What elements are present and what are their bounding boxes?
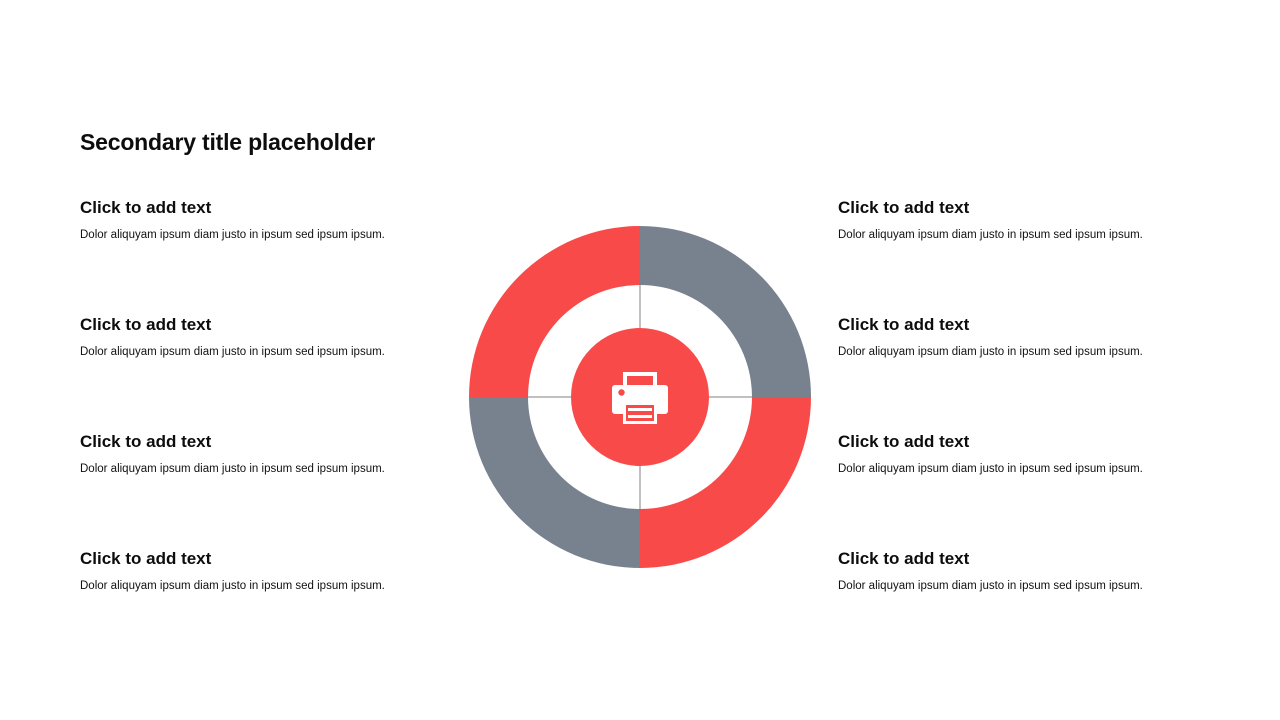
text-block-body[interactable]: Dolor aliquyam ipsum diam justo in ipsum… xyxy=(838,452,1228,477)
text-block-body[interactable]: Dolor aliquyam ipsum diam justo in ipsum… xyxy=(838,569,1228,594)
donut-chart-svg xyxy=(469,226,811,568)
text-block-heading[interactable]: Click to add text xyxy=(838,198,1228,218)
text-block-heading[interactable]: Click to add text xyxy=(80,315,470,335)
text-block-heading[interactable]: Click to add text xyxy=(838,315,1228,335)
text-block-body[interactable]: Dolor aliquyam ipsum diam justo in ipsum… xyxy=(80,452,470,477)
slide-canvas: Secondary title placeholder Click to add… xyxy=(0,0,1280,720)
text-block-bottom-left[interactable]: Click to add text Dolor aliquyam ipsum d… xyxy=(80,549,470,594)
text-block-heading[interactable]: Click to add text xyxy=(80,549,470,569)
text-block-lower-mid-left[interactable]: Click to add text Dolor aliquyam ipsum d… xyxy=(80,432,470,477)
text-block-top-left[interactable]: Click to add text Dolor aliquyam ipsum d… xyxy=(80,198,470,243)
text-block-body[interactable]: Dolor aliquyam ipsum diam justo in ipsum… xyxy=(838,335,1228,360)
text-block-body[interactable]: Dolor aliquyam ipsum diam justo in ipsum… xyxy=(80,335,470,360)
text-block-upper-mid-right[interactable]: Click to add text Dolor aliquyam ipsum d… xyxy=(838,315,1228,360)
text-block-heading[interactable]: Click to add text xyxy=(80,432,470,452)
text-block-top-right[interactable]: Click to add text Dolor aliquyam ipsum d… xyxy=(838,198,1228,243)
text-block-bottom-right[interactable]: Click to add text Dolor aliquyam ipsum d… xyxy=(838,549,1228,594)
text-block-body[interactable]: Dolor aliquyam ipsum diam justo in ipsum… xyxy=(838,218,1228,243)
donut-chart xyxy=(469,226,811,568)
text-block-heading[interactable]: Click to add text xyxy=(80,198,470,218)
text-block-upper-mid-left[interactable]: Click to add text Dolor aliquyam ipsum d… xyxy=(80,315,470,360)
text-block-lower-mid-right[interactable]: Click to add text Dolor aliquyam ipsum d… xyxy=(838,432,1228,477)
page-title: Secondary title placeholder xyxy=(80,129,375,156)
text-block-heading[interactable]: Click to add text xyxy=(838,549,1228,569)
text-block-body[interactable]: Dolor aliquyam ipsum diam justo in ipsum… xyxy=(80,569,470,594)
text-block-body[interactable]: Dolor aliquyam ipsum diam justo in ipsum… xyxy=(80,218,470,243)
text-block-heading[interactable]: Click to add text xyxy=(838,432,1228,452)
